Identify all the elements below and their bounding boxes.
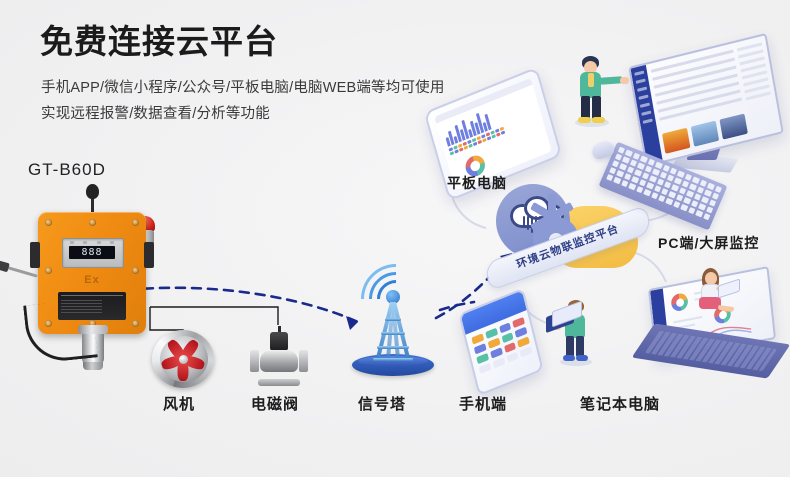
mount-bracket-left xyxy=(30,242,40,268)
ex-marking: Ex xyxy=(38,274,146,286)
label-pc: PC端/大屏监控 xyxy=(658,233,759,253)
tablet-device xyxy=(432,88,554,180)
label-phone: 手机端 xyxy=(459,393,507,414)
person-pointing xyxy=(573,56,625,126)
held-laptop-icon xyxy=(546,306,582,332)
smartphone-device xyxy=(466,300,536,384)
label-tower: 信号塔 xyxy=(358,393,406,414)
person-seated-woman xyxy=(692,268,738,320)
label-fan: 风机 xyxy=(163,393,195,414)
detector-display-bezel: 888 xyxy=(62,238,124,268)
gas-detector-device: 888 Ex xyxy=(30,190,160,350)
infographic-canvas: 免费连接云平台 手机APP/微信小程序/公众号/平板电脑/电脑WEB端等均可使用… xyxy=(0,0,790,477)
fan-icon xyxy=(152,330,214,388)
device-model-label: GT-B60D xyxy=(28,160,106,180)
detector-lcd: 888 xyxy=(69,246,115,259)
signal-tower-icon xyxy=(348,262,438,380)
label-valve: 电磁阀 xyxy=(251,393,299,414)
detector-reading: 888 xyxy=(81,248,102,258)
mount-bracket-right xyxy=(144,242,154,268)
label-laptop: 笔记本电脑 xyxy=(580,393,660,414)
solenoid-valve-icon xyxy=(248,330,310,386)
